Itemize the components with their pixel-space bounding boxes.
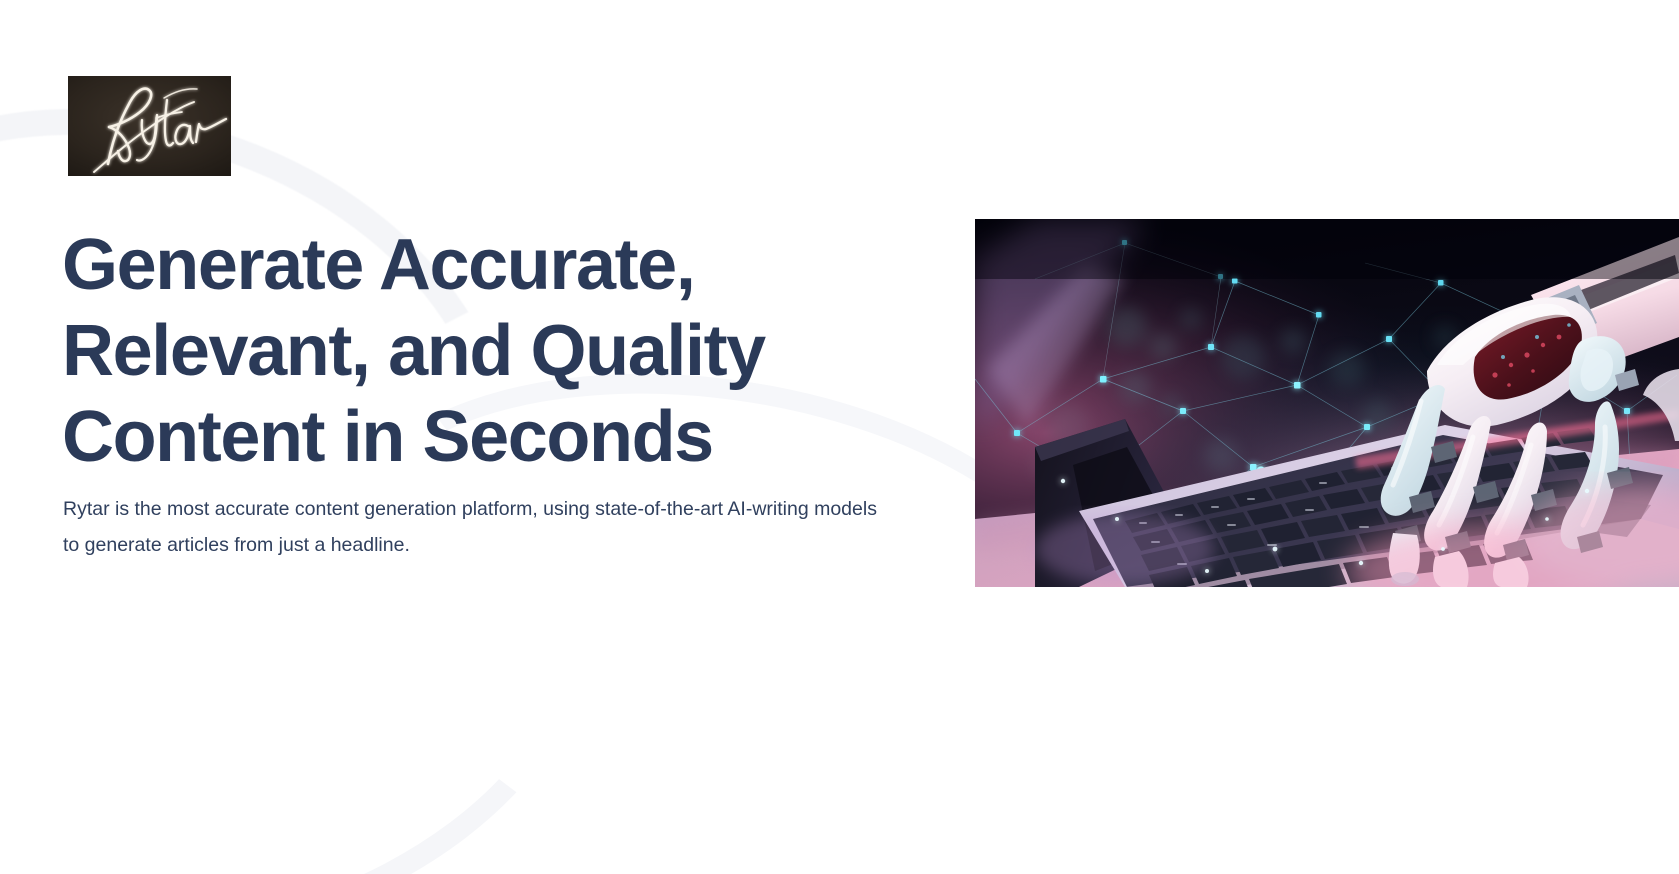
subtitle-line-1: Rytar is the most accurate content gener…: [63, 491, 973, 527]
hero-page: Generate Accurate, Relevant, and Quality…: [0, 0, 1679, 874]
logo-signature-icon: [68, 76, 231, 176]
rytar-logo[interactable]: [68, 76, 231, 176]
hero-subtitle: Rytar is the most accurate content gener…: [63, 491, 973, 563]
hero-image: Robotic hand typing on a laptop keyboard…: [975, 219, 1679, 587]
subtitle-line-2: to generate articles from just a headlin…: [63, 527, 973, 563]
headline-line-3: Content in Seconds: [62, 394, 902, 480]
headline-line-1: Generate Accurate,: [62, 222, 902, 308]
background-swoosh-4: [0, 529, 519, 874]
page-title: Generate Accurate, Relevant, and Quality…: [62, 222, 902, 480]
headline-line-2: Relevant, and Quality: [62, 308, 902, 394]
